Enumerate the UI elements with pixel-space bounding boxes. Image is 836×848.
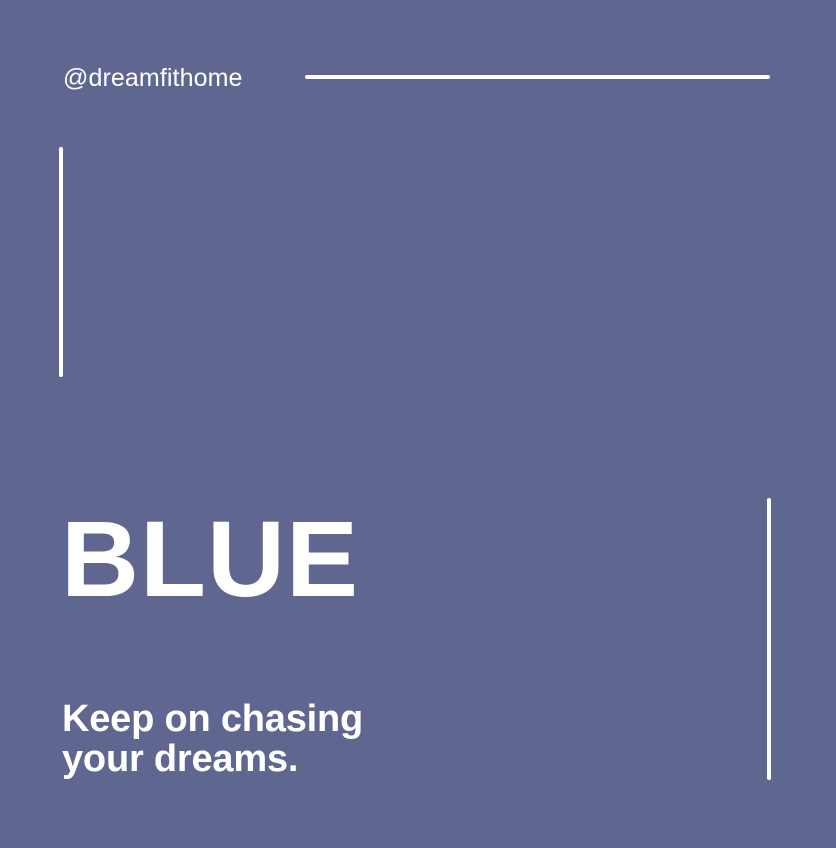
right-vertical-rule bbox=[767, 498, 771, 780]
account-handle: @dreamfithome bbox=[63, 62, 243, 94]
subtitle: Keep on chasing your dreams. bbox=[62, 699, 363, 779]
page-title: BLUE bbox=[61, 505, 359, 613]
top-horizontal-rule bbox=[305, 75, 770, 79]
subtitle-line-2: your dreams. bbox=[62, 739, 363, 779]
subtitle-line-1: Keep on chasing bbox=[62, 699, 363, 739]
poster-canvas: @dreamfithome BLUE Keep on chasing your … bbox=[0, 0, 836, 848]
left-vertical-rule bbox=[59, 147, 63, 377]
